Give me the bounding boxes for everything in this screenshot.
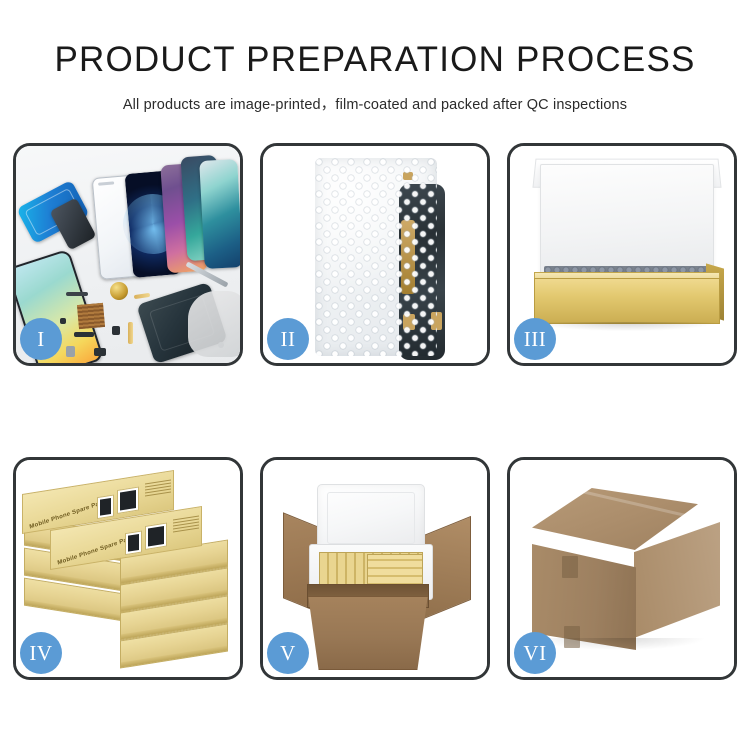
product-preparation-infographic: PRODUCT PREPARATION PROCESS All products… bbox=[0, 0, 750, 750]
step-badge-3: III bbox=[514, 318, 556, 360]
step-badge-2: II bbox=[267, 318, 309, 360]
step-badge-1: I bbox=[20, 318, 62, 360]
spare-part-sim-tray bbox=[66, 346, 75, 357]
step-badge-6: VI bbox=[514, 632, 556, 674]
scene-carton-with-styrofoam: V bbox=[263, 460, 487, 677]
step-badge-4: IV bbox=[20, 632, 62, 674]
process-step-panel-2: II bbox=[260, 143, 490, 366]
scene-bubble-wrapped-part: II bbox=[263, 146, 487, 363]
styrofoam-lid bbox=[317, 484, 425, 552]
box-window-top-1 bbox=[97, 494, 114, 519]
page-title: PRODUCT PREPARATION PROCESS bbox=[0, 42, 750, 77]
box-window-top-2 bbox=[117, 487, 139, 514]
header: PRODUCT PREPARATION PROCESS All products… bbox=[0, 0, 750, 114]
spare-part-screw bbox=[60, 318, 66, 324]
page-subtitle: All products are image-printed，film-coat… bbox=[0, 93, 750, 114]
phone-teal-secondary bbox=[199, 159, 240, 269]
carton-front-face bbox=[532, 544, 636, 650]
box-drop-shadow bbox=[536, 322, 716, 331]
carton-front-panel bbox=[303, 596, 433, 670]
bubble-texture-overlay bbox=[315, 158, 437, 356]
hand-holding-part bbox=[188, 291, 240, 357]
scene-product-components: I bbox=[16, 146, 240, 363]
box-spec-lines-top bbox=[145, 479, 171, 498]
camera-lens-part bbox=[110, 282, 128, 300]
box-spec-lines-lower bbox=[173, 515, 199, 534]
process-step-panel-6: VI bbox=[507, 457, 737, 680]
scene-inner-box-with-foam: III bbox=[510, 146, 734, 363]
circuit-board-chip bbox=[77, 303, 105, 329]
carton-tape-patch-upper bbox=[562, 556, 578, 578]
spare-part-speaker bbox=[94, 348, 106, 356]
bubble-wrap-bag bbox=[315, 158, 437, 356]
box-window-lower-2 bbox=[145, 523, 167, 550]
spare-part-flex-gold bbox=[134, 293, 150, 299]
process-step-panel-5: V bbox=[260, 457, 490, 680]
scene-sealed-shipping-carton: VI bbox=[510, 460, 734, 677]
process-step-grid: I II bbox=[13, 143, 737, 680]
process-step-panel-3: III bbox=[507, 143, 737, 366]
process-step-panel-4: Mobile Phone Spare Parts Mobile Phone Sp… bbox=[13, 457, 243, 680]
box-front-kraft bbox=[534, 278, 720, 324]
spare-part-strip bbox=[66, 292, 88, 296]
step-badge-5: V bbox=[267, 632, 309, 674]
spare-part-flex-cable bbox=[128, 322, 133, 344]
box-window-lower-1 bbox=[125, 530, 142, 555]
process-step-panel-1: I bbox=[13, 143, 243, 366]
foam-sheet-white bbox=[540, 164, 714, 278]
scene-stacked-retail-boxes: Mobile Phone Spare Parts Mobile Phone Sp… bbox=[16, 460, 240, 677]
spare-part-small-block bbox=[112, 326, 120, 335]
spare-part-connector bbox=[74, 332, 94, 337]
carton-drop-shadow bbox=[534, 638, 704, 650]
